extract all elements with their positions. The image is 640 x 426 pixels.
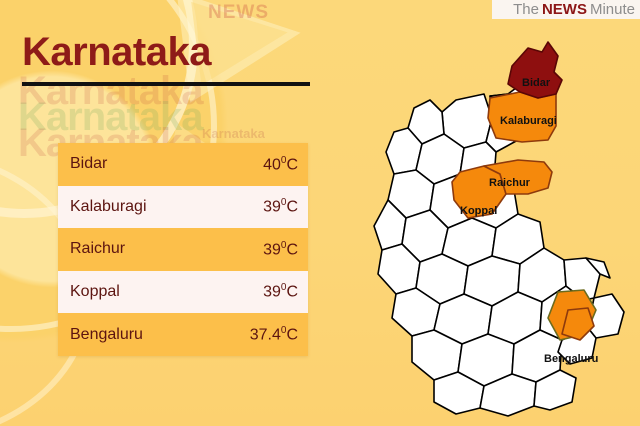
temp-unit: C	[286, 156, 298, 173]
temperature-value: 390C	[263, 197, 298, 216]
map-svg	[372, 22, 640, 422]
temp-number: 39	[263, 199, 281, 216]
page-title: Karnataka	[22, 30, 211, 75]
temp-unit: C	[286, 241, 298, 258]
temp-unit: C	[286, 199, 298, 216]
watermark-small-title: Karnataka	[202, 126, 265, 141]
brand-banner: The NEWS Minute	[492, 0, 640, 19]
map-label-kalaburagi: Kalaburagi	[500, 115, 557, 127]
city-name: Raichur	[70, 240, 263, 258]
temperature-value: 400C	[263, 155, 298, 174]
table-row: Koppal 390C	[58, 271, 308, 314]
temp-number: 40	[263, 156, 281, 173]
table-row: Bidar 400C	[58, 143, 308, 186]
temp-number: 37.4	[250, 326, 281, 343]
map-district-bidar	[508, 42, 562, 98]
table-row: Bengaluru 37.40C	[58, 313, 308, 356]
map-label-bengaluru: Bengaluru	[544, 353, 598, 365]
temperature-value: 390C	[263, 282, 298, 301]
title-underline-rule	[22, 82, 310, 86]
city-name: Koppal	[70, 283, 263, 301]
temp-number: 39	[263, 241, 281, 258]
table-row: Kalaburagi 390C	[58, 186, 308, 229]
brand-suffix: Minute	[590, 1, 635, 18]
map-label-raichur: Raichur	[489, 177, 530, 189]
city-name: Bengaluru	[70, 326, 250, 344]
infographic-canvas: NEWS Karnataka Karnataka Karnataka Karna…	[0, 0, 640, 426]
table-row: Raichur 390C	[58, 228, 308, 271]
temp-unit: C	[286, 284, 298, 301]
karnataka-district-map: Bidar Kalaburagi Raichur Koppal Bengalur…	[372, 22, 640, 422]
city-name: Bidar	[70, 155, 263, 173]
watermark-news-text: NEWS	[208, 2, 269, 24]
brand-prefix: The	[513, 1, 539, 18]
temperature-value: 37.40C	[250, 325, 298, 344]
map-label-bidar: Bidar	[522, 77, 550, 89]
temp-number: 39	[263, 284, 281, 301]
map-label-koppal: Koppal	[460, 205, 497, 217]
temp-unit: C	[286, 326, 298, 343]
temperature-value: 390C	[263, 240, 298, 259]
city-name: Kalaburagi	[70, 198, 263, 216]
brand-highlight: NEWS	[539, 1, 590, 18]
temperature-table: Bidar 400C Kalaburagi 390C Raichur 390C …	[58, 143, 308, 356]
